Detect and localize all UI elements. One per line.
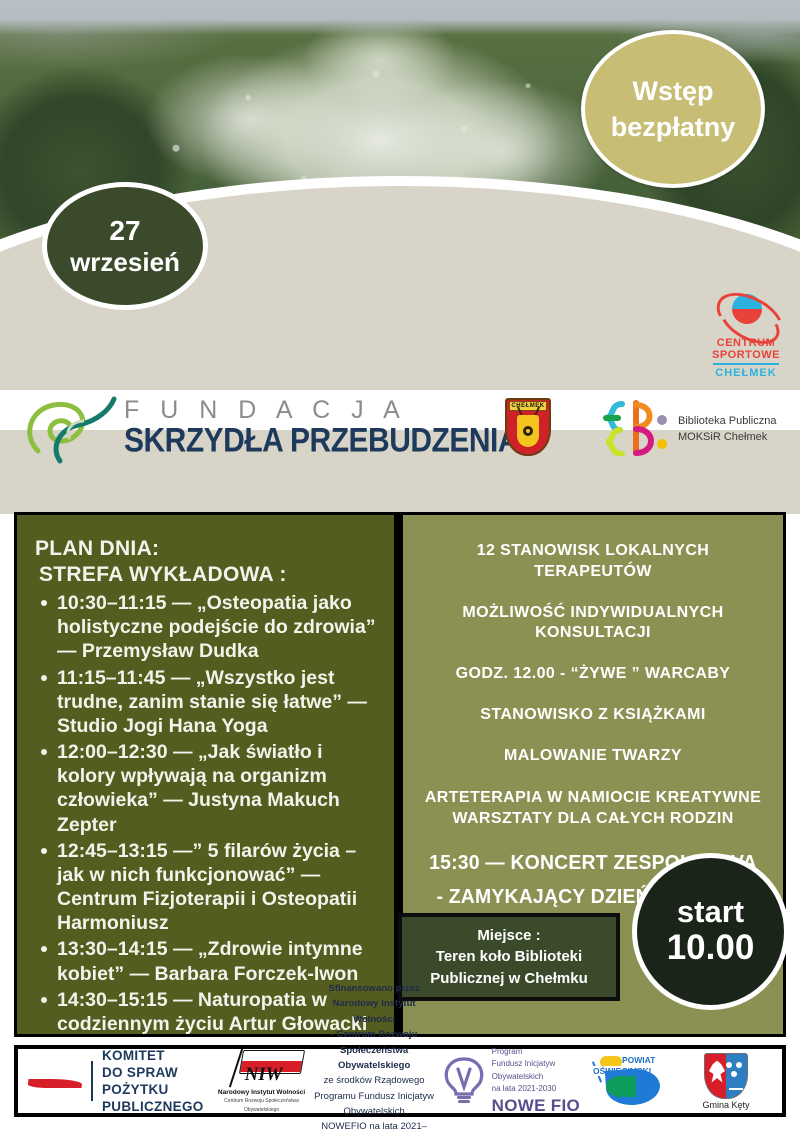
footer-divider (91, 1061, 93, 1101)
sport-ball-icon (700, 292, 792, 338)
kety-eagle (709, 1061, 725, 1083)
kety-dots (726, 1062, 742, 1088)
fio-big-word: NOWE FIO (492, 1096, 580, 1116)
biblioteka-wordmark: Biblioteka Publiczna MOKSiR Chełmek (678, 414, 776, 446)
kety-bar (729, 1088, 743, 1090)
niw-logo: NIW Narodowy Instytut Wolności Centrum R… (216, 1048, 308, 1113)
sport-divider (713, 363, 779, 365)
schedule-panel: PLAN DNIA: STREFA WYKŁADOWA : 10:30–11:1… (17, 515, 394, 1034)
biblioteka-line2: MOKSiR Chełmek (678, 430, 776, 446)
niw-caption-line2: Centrum Rozwoju Społeczeństwa Obywatelsk… (224, 1098, 299, 1112)
fundacja-line-top: F U N D A C J A (124, 398, 519, 423)
plan-heading: PLAN DNIA: (35, 537, 378, 561)
funding-statement: Sfinansowano przez Narodowy Instytut Wol… (308, 981, 441, 1132)
niw-caption: Narodowy Instytut Wolności Centrum Rozwo… (216, 1089, 308, 1113)
funding-line2: - Centrum Rozwoju Społeczeństwa Obywatel… (331, 1029, 418, 1071)
sponsor-footer: KOMITET DO SPRAW POŻYTKU PUBLICZNEGO NIW… (14, 1045, 786, 1117)
komitet-line4: PUBLICZNEGO (102, 1098, 204, 1115)
niw-mark-icon: NIW (219, 1048, 305, 1088)
date-day: 27 (109, 214, 140, 247)
fio-line3: Obywatelskich (492, 1071, 580, 1083)
fio-line4: na lata 2021-2030 (492, 1083, 580, 1095)
funding-line4: NOWEFIO na lata 2021–2030 oraz ze środkó… (314, 1119, 435, 1132)
fundacja-wordmark: F U N D A C J A SKRZYDŁA PRZEBUDZENIA (124, 398, 519, 455)
fio-bulb-icon (441, 1057, 487, 1105)
centrum-sportowe-logo: CENTRUM SPORTOWE CHEŁMEK (700, 292, 792, 380)
attraction-line-6: ARTETERAPIA W NAMIOCIE KREATYWNE WARSZTA… (417, 787, 769, 829)
crest-band-text: CHEŁMEK (509, 401, 547, 411)
start-label: start (677, 895, 744, 929)
powiat-line1: POWIAT (622, 1055, 655, 1065)
start-time: 10.00 (667, 929, 755, 968)
niw-word: NIW (245, 1064, 283, 1086)
attraction-line-4: STANOWISKO Z KSIĄŻKAMI (417, 705, 769, 726)
niw-caption-line1: Narodowy Instytut Wolności (216, 1089, 308, 1097)
attraction-line-3: GODZ. 12.00 - “ŻYWE ” WARCABY (417, 664, 769, 685)
schedule-item: 13:30–14:15 — „Zdrowie intymne kobiet” —… (35, 937, 378, 985)
attraction-line-5: MALOWANIE TWARZY (417, 746, 769, 767)
free-entry-badge: Wstęp bezpłatny (581, 30, 765, 188)
venue-line2: Publicznej w Chełmku (430, 968, 588, 989)
poster-root: Wstęp bezpłatny 27 wrzesień F U N D A C … (0, 0, 800, 1132)
date-month: wrzesień (70, 247, 180, 278)
lecture-zone-heading: STREFA WYKŁADOWA : (39, 563, 378, 587)
funding-line3: ze środków Rządowego Programu Fundusz In… (314, 1073, 435, 1119)
content-panels: PLAN DNIA: STREFA WYKŁADOWA : 10:30–11:1… (14, 512, 786, 1037)
schedule-list: 10:30–11:15 — „Osteopatia jako holistycz… (35, 591, 378, 1036)
free-entry-line2: bezpłatny (611, 109, 736, 145)
powiat-oswiecimski-logo: POWIAT OŚWIĘCIMSKI (588, 1055, 674, 1107)
attractions-panel: 12 STANOWISK LOKALNYCH TERAPEUTÓW MOŻLIW… (403, 515, 783, 1034)
schedule-item: 12:45–13:15 —” 5 filarów życia – jak w n… (35, 839, 378, 936)
fundacja-line-bottom: SKRZYDŁA PRZEBUDZENIA (124, 423, 519, 460)
attraction-line-1: 12 STANOWISK LOKALNYCH TERAPEUTÓW (417, 541, 769, 583)
sport-line2: SPORTOWE (700, 350, 792, 362)
gmina-kety-logo: Gmina Kęty (680, 1053, 772, 1110)
komitet-wordmark: KOMITET DO SPRAW POŻYTKU PUBLICZNEGO (102, 1047, 204, 1115)
polish-flag-icon (28, 1068, 82, 1094)
schedule-item: 11:15–11:45 — „Wszystko jest trudne, zan… (35, 666, 378, 739)
komitet-line3: POŻYTKU (102, 1081, 204, 1098)
kety-caption: Gmina Kęty (680, 1100, 772, 1110)
crest-ring (523, 426, 533, 436)
chelmek-coat-of-arms-icon: CHEŁMEK (505, 398, 551, 456)
flag-red-stripe (28, 1079, 83, 1088)
biblioteka-line1: Biblioteka Publiczna (678, 414, 776, 430)
attraction-line-2: MOŻLIWOŚĆ INDYWIDUALNYCH KONSULTACJI (417, 603, 769, 645)
fio-line2: Fundusz Inicjatyw (492, 1058, 580, 1070)
venue-label: Miejsce : (477, 925, 540, 946)
schedule-item: 10:30–11:15 — „Osteopatia jako holistycz… (35, 591, 378, 664)
fio-line1: Program (492, 1046, 580, 1058)
biblioteka-moksir-logo: Biblioteka Publiczna MOKSiR Chełmek (600, 400, 790, 458)
funding-line1: Sfinansowano przez Narodowy Instytut Wol… (328, 983, 419, 1025)
free-entry-line1: Wstęp (633, 73, 714, 109)
date-badge: 27 wrzesień (42, 182, 208, 310)
fundacja-wing-icon (20, 395, 135, 467)
powiat-green-shape (606, 1076, 636, 1097)
komitet-line2: DO SPRAW (102, 1064, 204, 1081)
schedule-item: 12:00–12:30 — „Jak światło i kolory wpły… (35, 740, 378, 837)
kety-shield-icon (704, 1053, 748, 1099)
nowe-fio-logo: Program Fundusz Inicjatyw Obywatelskich … (441, 1046, 580, 1116)
komitet-line1: KOMITET (102, 1047, 204, 1064)
venue-line1: Teren koło Biblioteki (436, 946, 582, 967)
biblioteka-mark-icon (600, 400, 670, 456)
sport-line3: CHEŁMEK (700, 367, 792, 379)
fio-wordmark: Program Fundusz Inicjatyw Obywatelskich … (492, 1046, 580, 1116)
start-time-badge: start 10.00 (632, 853, 789, 1010)
